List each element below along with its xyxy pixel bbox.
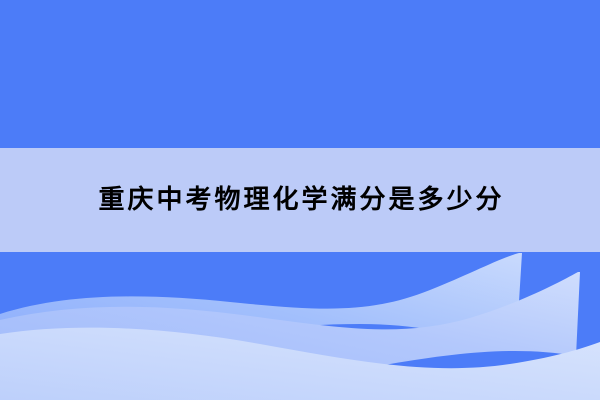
page-canvas: 重庆中考物理化学满分是多少分: [0, 0, 600, 400]
title-band: 重庆中考物理化学满分是多少分: [0, 148, 600, 252]
bottom-wave-band: [0, 252, 600, 400]
wave-illustration: [0, 252, 600, 400]
page-title: 重庆中考物理化学满分是多少分: [95, 187, 504, 213]
top-color-band: [0, 0, 600, 148]
